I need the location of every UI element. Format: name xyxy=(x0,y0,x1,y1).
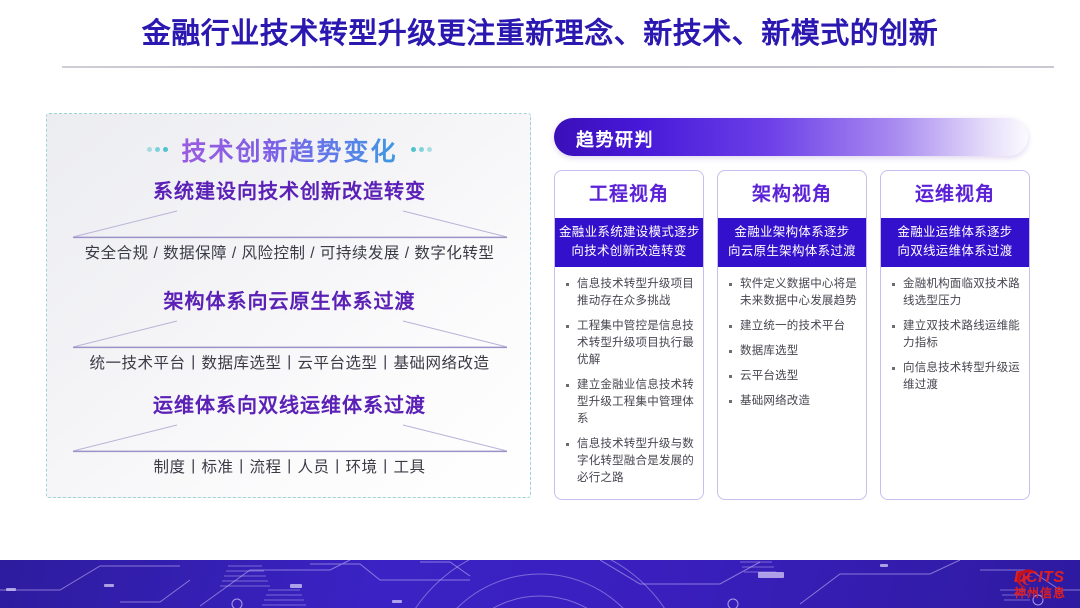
card-title: 工程视角 xyxy=(555,171,703,218)
page-title: 金融行业技术转型升级更注重新理念、新技术、新模式的创新 xyxy=(0,14,1080,54)
card-bullet-list: 信息技术转型升级项目推动存在众多挑战 工程集中管控是信息技术转型升级项目执行最优… xyxy=(555,267,703,487)
trend-group-title: 架构体系向云原生体系过渡 xyxy=(47,288,532,316)
title-divider xyxy=(62,66,1054,68)
trend-judgement-label: 趋势研判 xyxy=(576,126,654,152)
card-banner: 金融业系统建设模式逐步 向技术创新改造转变 xyxy=(555,218,703,267)
trend-group: 系统建设向技术创新改造转变 安全合规 / 数据保障 / 风险控制 / 可持续发展… xyxy=(47,178,532,266)
viewpoint-card-list: 工程视角 金融业系统建设模式逐步 向技术创新改造转变 信息技术转型升级项目推动存… xyxy=(554,170,1030,500)
card-banner-line2: 向技术创新改造转变 xyxy=(559,242,699,261)
trend-group-title: 运维体系向双线运维体系过渡 xyxy=(47,392,532,420)
list-item: 建立金融业信息技术转型升级工程集中管理体系 xyxy=(564,377,695,428)
panel-heading-label: 技术创新趋势变化 xyxy=(181,138,397,166)
card-banner: 金融业运维体系逐步 向双线运维体系过渡 xyxy=(881,218,1029,267)
card-title: 架构视角 xyxy=(718,171,866,218)
list-item: 建立双技术路线运维能力指标 xyxy=(890,318,1021,352)
trend-group-items: 制度丨标准丨流程丨人员丨环境丨工具 xyxy=(47,456,532,480)
card-banner-line1: 金融业系统建设模式逐步 xyxy=(559,223,699,242)
funnel-shape-icon xyxy=(67,320,513,350)
card-banner-line1: 金融业运维体系逐步 xyxy=(885,223,1025,242)
company-logo: DCITS 神州信息 xyxy=(1014,566,1066,602)
tech-trend-panel: 技术创新趋势变化 系统建设向技术创新改造转变 安全合规 / 数据保障 / 风险控… xyxy=(46,113,531,498)
trend-group: 运维体系向双线运维体系过渡 制度丨标准丨流程丨人员丨环境丨工具 xyxy=(47,392,532,480)
trend-group-title: 系统建设向技术创新改造转变 xyxy=(47,178,532,206)
viewpoint-card-architecture[interactable]: 架构视角 金融业架构体系逐步 向云原生架构体系过渡 软件定义数据中心将是未来数据… xyxy=(717,170,867,500)
list-item: 云平台选型 xyxy=(727,368,858,385)
list-item: 建立统一的技术平台 xyxy=(727,318,858,335)
list-item: 金融机构面临双技术路线选型压力 xyxy=(890,276,1021,310)
card-banner: 金融业架构体系逐步 向云原生架构体系过渡 xyxy=(718,218,866,267)
footer-band: DCITS 神州信息 xyxy=(0,560,1080,608)
logo-swirl-icon xyxy=(1014,566,1040,592)
card-bullet-list: 金融机构面临双技术路线选型压力 建立双技术路线运维能力指标 向信息技术转型升级运… xyxy=(881,267,1029,394)
trend-judgement-banner: 趋势研判 xyxy=(554,118,1028,156)
card-banner-line1: 金融业架构体系逐步 xyxy=(722,223,862,242)
list-item: 工程集中管控是信息技术转型升级项目执行最优解 xyxy=(564,318,695,369)
funnel-shape-icon xyxy=(67,424,513,454)
card-banner-line2: 向双线运维体系过渡 xyxy=(885,242,1025,261)
card-title: 运维视角 xyxy=(881,171,1029,218)
viewpoint-card-operations[interactable]: 运维视角 金融业运维体系逐步 向双线运维体系过渡 金融机构面临双技术路线选型压力… xyxy=(880,170,1030,500)
list-item: 向信息技术转型升级运维过渡 xyxy=(890,360,1021,394)
trend-group-items: 统一技术平台丨数据库选型丨云平台选型丨基础网络改造 xyxy=(47,352,532,376)
panel-heading: 技术创新趋势变化 xyxy=(47,132,532,168)
viewpoint-card-engineering[interactable]: 工程视角 金融业系统建设模式逐步 向技术创新改造转变 信息技术转型升级项目推动存… xyxy=(554,170,704,500)
list-item: 基础网络改造 xyxy=(727,393,858,410)
list-item: 数据库选型 xyxy=(727,343,858,360)
funnel-shape-icon xyxy=(67,210,513,240)
trend-group-items: 安全合规 / 数据保障 / 风险控制 / 可持续发展 / 数字化转型 xyxy=(47,242,532,266)
list-item: 软件定义数据中心将是未来数据中心发展趋势 xyxy=(727,276,858,310)
dots-left-icon xyxy=(145,139,169,157)
dots-right-icon xyxy=(410,139,434,157)
circuit-pattern-icon xyxy=(0,560,1080,608)
card-bullet-list: 软件定义数据中心将是未来数据中心发展趋势 建立统一的技术平台 数据库选型 云平台… xyxy=(718,267,866,410)
list-item: 信息技术转型升级项目推动存在众多挑战 xyxy=(564,276,695,310)
card-banner-line2: 向云原生架构体系过渡 xyxy=(722,242,862,261)
list-item: 信息技术转型升级与数字化转型融合是发展的必行之路 xyxy=(564,436,695,487)
trend-group: 架构体系向云原生体系过渡 统一技术平台丨数据库选型丨云平台选型丨基础网络改造 xyxy=(47,288,532,376)
